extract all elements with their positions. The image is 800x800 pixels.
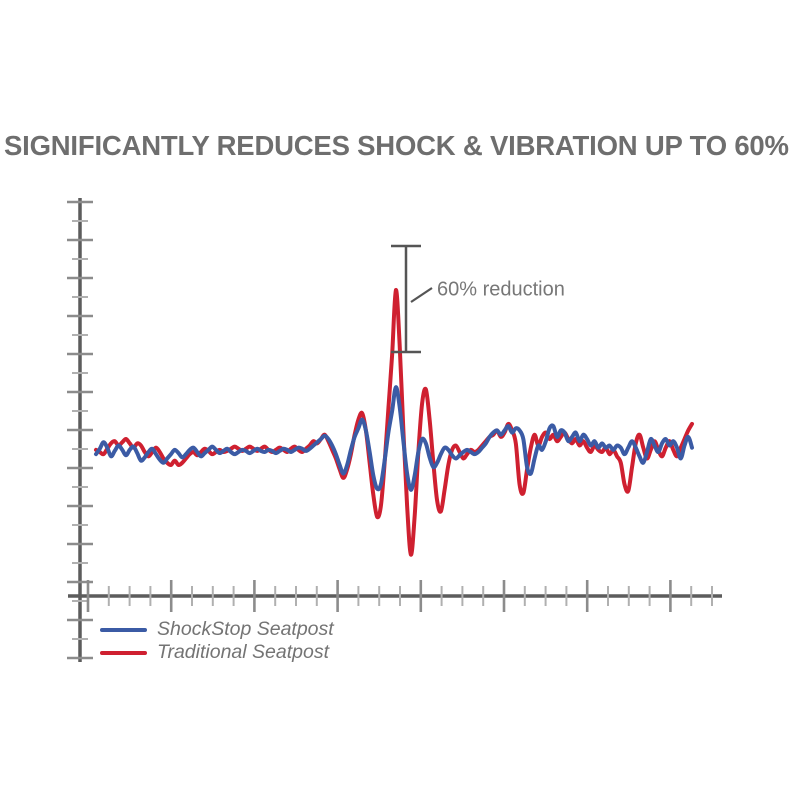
legend-label-shockstop: ShockStop Seatpost [157,618,334,641]
chart-canvas: SIGNIFICANTLY REDUCES SHOCK & VIBRATION … [0,0,800,800]
legend-item-shockstop: ShockStop Seatpost [100,618,420,641]
chart-legend: ShockStop Seatpost Traditional Seatpost [100,618,420,664]
page-title: SIGNIFICANTLY REDUCES SHOCK & VIBRATION … [4,130,798,162]
legend-swatch-shockstop [100,628,147,632]
bracket-leader-line [411,288,432,302]
axes-group [68,198,722,662]
legend-item-traditional: Traditional Seatpost [100,641,420,664]
legend-label-traditional: Traditional Seatpost [157,641,329,664]
series-line-traditional [96,290,692,555]
series-line-shockstop [96,387,692,490]
legend-swatch-traditional [100,651,147,655]
reduction-annotation-label: 60% reduction [437,278,565,300]
